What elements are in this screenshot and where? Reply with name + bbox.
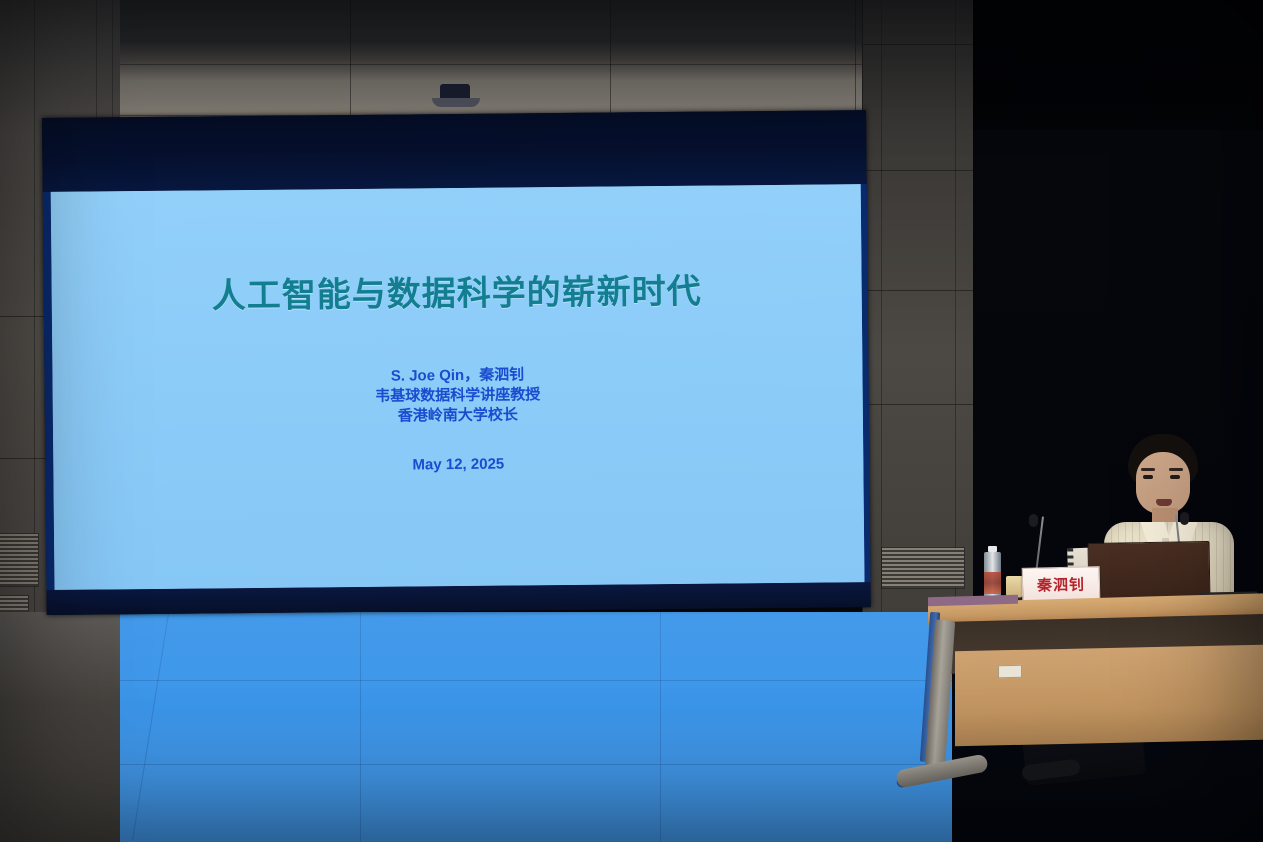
presenter-mouth [1156, 499, 1172, 506]
slide-title: 人工智能与数据科学的崭新时代 [51, 262, 861, 319]
desk-modesty-panel [955, 645, 1263, 746]
slide-date: May 12, 2025 [53, 452, 863, 477]
right-wall [862, 0, 973, 640]
presenter-eyebrow-left [1141, 468, 1155, 471]
wall-vent-right-upper [882, 548, 964, 588]
projection-screen: 人工智能与数据科学的崭新时代 S. Joe Qin，秦泗钊 韦基球数据科学讲座教… [42, 110, 871, 615]
wall-vent-left-upper [0, 534, 38, 586]
microphone-icon-left [1029, 514, 1038, 527]
screen-top-band [42, 110, 867, 192]
slide-floor-reflection: 人工智能与数据科学的崭新时代 S. Joe Qin，秦泗钊 韦基球数据科学讲座教… [50, 612, 862, 842]
ceiling-projector-icon [432, 84, 480, 110]
presenter-nameplate: 秦泗钊 [1022, 566, 1101, 602]
laptop-screen [1087, 541, 1210, 603]
presentation-slide: 人工智能与数据科学的崭新时代 S. Joe Qin，秦泗钊 韦基球数据科学讲座教… [51, 184, 865, 590]
microphone-icon-right [1180, 512, 1189, 525]
slide-author-block: S. Joe Qin，秦泗钊 韦基球数据科学讲座教授 香港岭南大学校长 [52, 362, 863, 430]
presenter-eye-right [1170, 475, 1180, 479]
presenter-eye-left [1143, 475, 1153, 479]
nameplate-text: 秦泗钊 [1037, 573, 1085, 595]
presenter-eyebrow-right [1169, 468, 1183, 471]
screen-display-area: 人工智能与数据科学的崭新时代 S. Joe Qin，秦泗钊 韦基球数据科学讲座教… [51, 184, 865, 590]
desk-label-tag [998, 665, 1022, 679]
lecture-hall-scene: 人工智能与数据科学的崭新时代 S. Joe Qin，秦泗钊 韦基球数据科学讲座教… [0, 0, 1263, 842]
